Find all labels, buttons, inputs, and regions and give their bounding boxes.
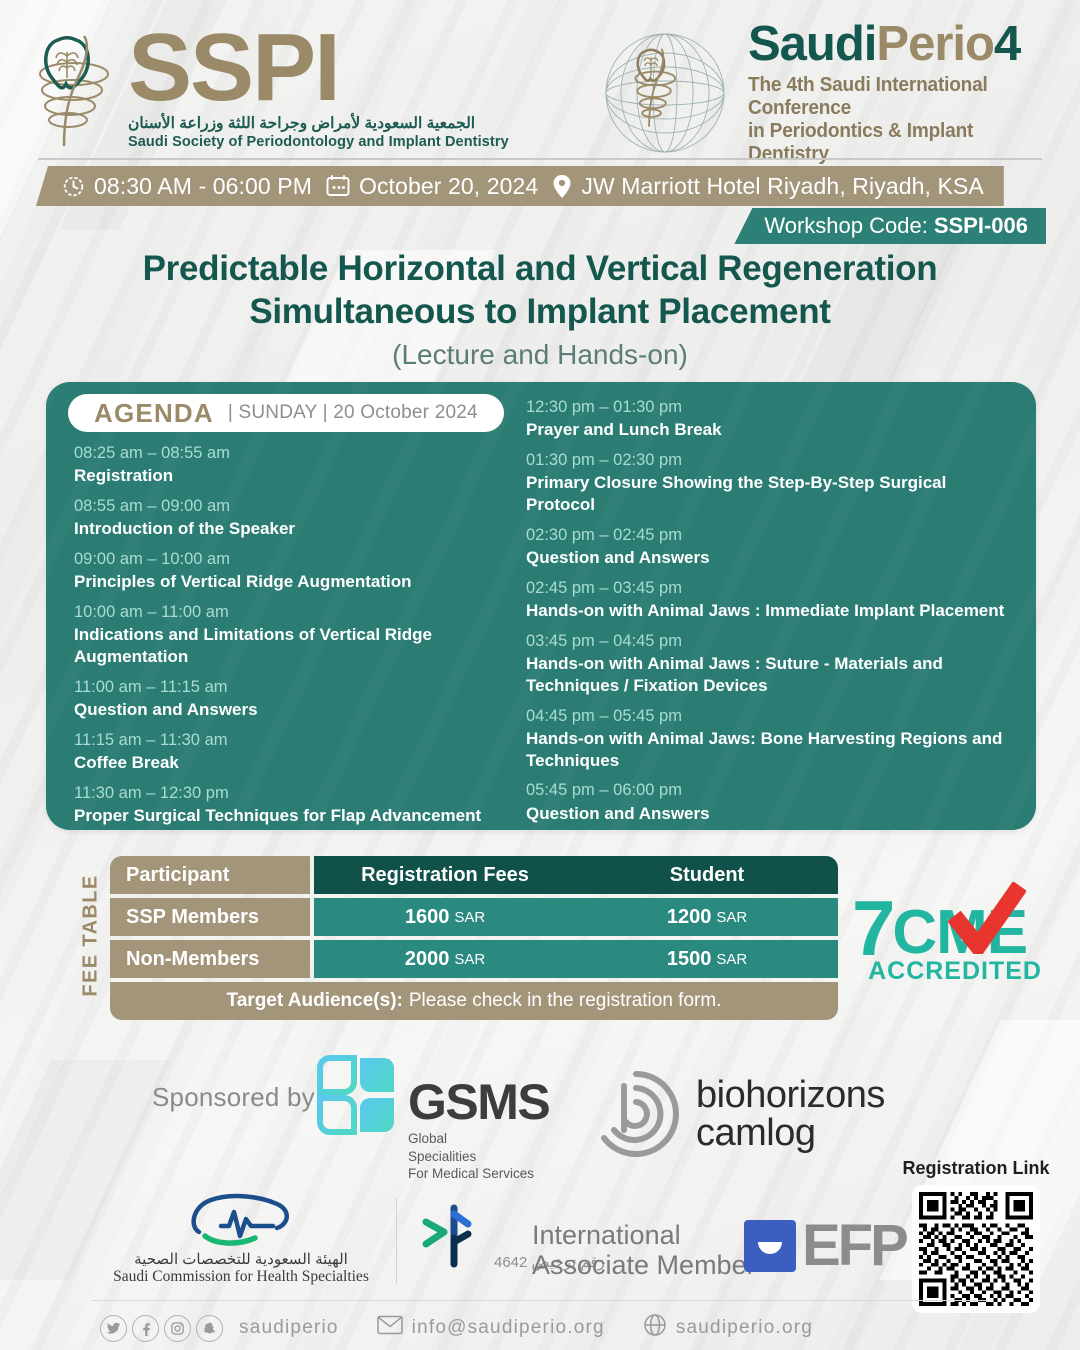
agenda-item: 02:30 pm – 02:45 pm Question and Answers [526,524,1020,569]
gsms-tagline-line1: Global [408,1130,549,1148]
event-venue-text: JW Marriott Hotel Riyadh, Riyadh, KSA [581,173,984,200]
scfhs-english-name: Saudi Commission for Health Specialties [96,1268,386,1286]
scfhs-mark-icon [96,1192,386,1248]
calendar-icon [326,175,350,197]
gsms-mark-icon [316,1054,398,1136]
gsms-name: GSMS [408,1080,549,1125]
fee-table-side-label: FEE TABLE [74,856,108,1014]
agenda-item-title: Question and Answers [526,803,1020,825]
cme-hours: 7 [852,898,892,959]
fee-table-side-label-text: FEE TABLE [80,874,103,996]
event-time-text: 08:30 AM - 06:00 PM [94,173,312,200]
student-fee-currency: SAR [716,951,747,968]
conference-title-saudi: Saudi [748,17,876,71]
table-cell-fee: 2000SAR [314,940,576,978]
target-audience-value: Please check in the registration form. [409,990,722,1012]
registration-link-block[interactable]: Registration Link [888,1158,1064,1313]
agenda-item: 08:25 am – 08:55 am Registration [74,442,502,487]
agenda-item-title: Question and Answers [74,699,502,721]
gsms-tagline-line2: Specialities [408,1148,549,1166]
agenda-item: 11:30 am – 12:30 pm Proper Surgical Tech… [74,782,502,827]
conference-title: SaudiPerio4 [748,20,1080,69]
biohorizons-line2: camlog [696,1114,885,1152]
table-cell-fee: 1600SAR [314,898,576,936]
agenda-item-time: 11:30 am – 12:30 pm [74,782,502,804]
gsms-tagline-line3: For Medical Services [408,1165,549,1183]
footer-divider [92,1300,988,1301]
fee-table-section: FEE TABLE Participant Registration Fees … [78,856,838,1014]
conference-title-number: 4 [994,17,1020,71]
location-pin-icon [552,174,572,199]
saudiperio-logo: SaudiPerio4 The 4th Saudi International … [590,18,1080,168]
international-associate-member: International Associate Member [532,1220,756,1280]
website-text: saudiperio.org [676,1317,813,1339]
event-info-bar: 08:30 AM - 06:00 PM October 20, 2024 JW … [36,166,1004,206]
clock-icon [62,175,85,198]
globe-web-icon [643,1313,667,1343]
workshop-code-value: SSPI-006 [934,213,1028,239]
agenda-item-title: Introduction of the Speaker [74,518,502,540]
agenda-item-title: Indications and Limitations of Vertical … [74,624,502,668]
agenda-item: 01:30 pm – 02:30 pm Primary Closure Show… [526,449,1020,516]
envelope-icon [377,1315,403,1341]
qr-code[interactable] [912,1185,1040,1313]
agenda-item: 04:45 pm – 05:45 pm Hands-on with Animal… [526,705,1020,772]
qr-code-icon [919,1192,1033,1306]
agenda-item: 11:00 am – 11:15 am Question and Answers [74,676,502,721]
agenda-item-time: 08:55 am – 09:00 am [74,495,502,517]
agenda-item-time: 11:00 am – 11:15 am [74,676,502,698]
workshop-title-line2: Simultaneous to Implant Placement [0,291,1080,334]
iam-line2: Associate Member [532,1250,756,1280]
student-fee-amount: 1200 [667,906,712,929]
agenda-item-time: 12:30 pm – 01:30 pm [526,396,1020,418]
agenda-item: 05:45 pm – 06:00 pm Question and Answers [526,779,1020,824]
agenda-item-title: Hands-on with Animal Jaws: Bone Harvesti… [526,728,1020,772]
agenda-item-time: 08:25 am – 08:55 am [74,442,502,464]
agenda-item: 11:15 am – 11:30 am Coffee Break [74,729,502,774]
conference-poster: SSPI الجمعية السعودية لأمراض وجراحة اللث… [0,0,1080,1350]
poster-header: SSPI الجمعية السعودية لأمراض وجراحة اللث… [0,0,1080,165]
efp-smile-icon [744,1220,796,1272]
agenda-item: 10:00 am – 11:00 am Indications and Limi… [74,601,502,668]
agenda-item-time: 03:45 pm – 04:45 pm [526,630,1020,652]
header-divider [38,158,1042,160]
agenda-item-time: 02:30 pm – 02:45 pm [526,524,1020,546]
agenda-item-title: Hands-on with Animal Jaws : Immediate Im… [526,600,1020,622]
table-header-student: Student [576,856,838,894]
table-header-row: Participant Registration Fees Student [110,856,838,894]
snapchat-icon[interactable] [196,1315,223,1342]
event-venue: JW Marriott Hotel Riyadh, Riyadh, KSA [552,173,984,200]
sspi-logo: SSPI الجمعية السعودية لأمراض وجراحة اللث… [30,22,509,150]
cme-badge: 7 CME ACCREDITED [852,898,1042,1008]
table-cell-member-type: Non-Members [110,940,310,978]
agenda-item-title: Prayer and Lunch Break [526,419,1020,441]
license-mark-icon [414,1198,490,1274]
agenda-item-time: 04:45 pm – 05:45 pm [526,705,1020,727]
fee-currency: SAR [454,951,485,968]
agenda-item-time: 09:00 am – 10:00 am [74,548,502,570]
agenda-label: AGENDA [94,398,214,429]
agenda-item: 12:30 pm – 01:30 pm Prayer and Lunch Bre… [526,396,1020,441]
biohorizons-line1: biohorizons [696,1076,885,1114]
table-cell-student-fee: 1500SAR [576,940,838,978]
agenda-item: 02:45 pm – 03:45 pm Hands-on with Animal… [526,577,1020,622]
sspi-english-name: Saudi Society of Periodontology and Impl… [128,134,509,150]
agenda-item-title: Hands-on with Animal Jaws : Suture - Mat… [526,653,1020,697]
workshop-title-subtitle: (Lecture and Hands-on) [0,339,1080,371]
agenda-item-title: Question and Answers [526,547,1020,569]
twitter-icon[interactable] [100,1315,127,1342]
fee-amount: 2000 [405,948,450,971]
agenda-item-title: Coffee Break [74,752,502,774]
biohorizons-logo: biohorizons camlog [590,1068,885,1160]
workshop-code-label: Workshop Code: [764,213,927,239]
registration-link-label: Registration Link [888,1158,1064,1179]
gsms-tagline: Global Specialities For Medical Services [408,1130,549,1183]
agenda-panel: AGENDA | SUNDAY | 20 October 2024 08:25 … [46,382,1036,830]
conference-subtitle: The 4th Saudi International Conference i… [748,74,1057,166]
agenda-item-title: Principles of Vertical Ridge Augmentatio… [74,571,502,593]
accreditation-row: الهيئة السعودية للتخصصات الصحية Saudi Co… [96,1192,896,1302]
sspi-letters: SSPI [128,24,509,112]
agenda-column-left: 08:25 am – 08:55 am Registration 08:55 a… [46,442,516,830]
agenda-item: 09:00 am – 10:00 am Principles of Vertic… [74,548,502,593]
agenda-badge: AGENDA | SUNDAY | 20 October 2024 [68,394,504,432]
email-text: info@saudiperio.org [412,1317,605,1339]
accreditation-divider [396,1198,397,1284]
agenda-item-title: Proper Surgical Techniques for Flap Adva… [74,805,502,827]
table-header-registration-fees: Registration Fees [314,856,576,894]
scfhs-logo: الهيئة السعودية للتخصصات الصحية Saudi Co… [96,1192,386,1286]
agenda-item-time: 02:45 pm – 03:45 pm [526,577,1020,599]
agenda-item-title: Primary Closure Showing the Step-By-Step… [526,472,1020,516]
agenda-item-time: 10:00 am – 11:00 am [74,601,502,623]
gsms-logo: GSMS Global Specialities For Medical Ser… [316,1054,549,1183]
agenda-item-time: 01:30 pm – 02:30 pm [526,449,1020,471]
conference-subtitle-line1: The 4th Saudi International Conference [748,74,1057,120]
agenda-item-title: Registration [74,465,502,487]
student-fee-amount: 1500 [667,948,712,971]
workshop-title-block: Predictable Horizontal and Vertical Rege… [0,248,1080,371]
workshop-title-line1: Predictable Horizontal and Vertical Rege… [0,248,1080,291]
agenda-item-time: 11:15 am – 11:30 am [74,729,502,751]
biohorizons-mark-icon [590,1068,682,1160]
sponsored-by-label: Sponsored by: [152,1082,322,1113]
iam-line1: International [532,1220,756,1250]
email-contact[interactable]: info@saudiperio.org [377,1315,605,1341]
fee-table: Participant Registration Fees Student SS… [110,856,838,1020]
agenda-column-right: 12:30 pm – 01:30 pm Prayer and Lunch Bre… [516,396,1036,830]
event-time: 08:30 AM - 06:00 PM [62,173,312,200]
agenda-item: 08:55 am – 09:00 am Introduction of the … [74,495,502,540]
cme-accredited-label: ACCREDITED [852,957,1042,986]
social-handle: saudiperio [239,1317,339,1339]
scfhs-arabic-name: الهيئة السعودية للتخصصات الصحية [96,1250,386,1268]
instagram-icon[interactable] [164,1315,191,1342]
table-row: Non-Members 2000SAR 1500SAR [110,940,838,978]
fee-currency: SAR [454,909,485,926]
table-row: SSP Members 1600SAR 1200SAR [110,898,838,936]
sspi-emblem-icon [30,22,122,150]
footer-contact-bar: saudiperio info@saudiperio.org saudiperi… [100,1310,980,1346]
target-audience-row: Target Audience(s): Please check in the … [110,982,838,1020]
student-fee-currency: SAR [716,909,747,926]
table-cell-student-fee: 1200SAR [576,898,838,936]
globe-icon [590,18,740,168]
table-header-participant: Participant [110,856,310,894]
fee-amount: 1600 [405,906,450,929]
agenda-item: 03:45 pm – 04:45 pm Hands-on with Animal… [526,630,1020,697]
table-cell-member-type: SSP Members [110,898,310,936]
event-date-text: October 20, 2024 [359,173,538,200]
target-audience-label: Target Audience(s): [227,990,403,1012]
facebook-icon[interactable] [132,1315,159,1342]
event-date: October 20, 2024 [326,173,538,200]
website-contact[interactable]: saudiperio.org [643,1313,813,1343]
conference-title-perio: Perio [876,17,994,71]
social-icons [100,1315,223,1342]
sspi-arabic-name: الجمعية السعودية لأمراض وجراحة اللثة وزر… [128,114,509,133]
workshop-code-badge: Workshop Code: SSPI-006 [734,208,1046,244]
agenda-date-meta: | SUNDAY | 20 October 2024 [228,402,478,424]
agenda-item-time: 05:45 pm – 06:00 pm [526,779,1020,801]
checkmark-icon [948,882,1026,959]
